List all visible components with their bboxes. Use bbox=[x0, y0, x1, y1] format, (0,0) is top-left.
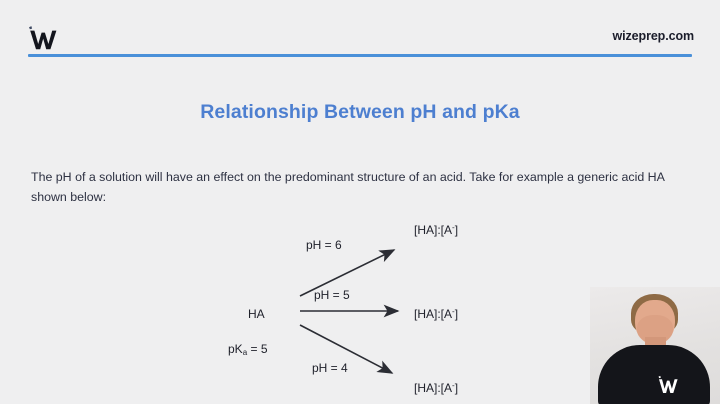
ph-pka-branch-diagram: HA pKa = 5 pH = 6 pH = 5 pH = 4 [HA]:[A-… bbox=[228, 206, 528, 404]
branch-result-ph4: [HA]:[A-] bbox=[414, 381, 458, 395]
diagram-arrows bbox=[228, 206, 528, 404]
branch-result-ph5: [HA]:[A-] bbox=[414, 307, 458, 321]
pka-prefix: pK bbox=[228, 342, 243, 356]
wizeprep-w-logo-icon bbox=[26, 24, 60, 52]
ratio-prefix: [HA]:[A bbox=[414, 381, 452, 395]
pka-label: pKa = 5 bbox=[228, 342, 268, 357]
presenter-video-overlay[interactable] bbox=[590, 287, 720, 404]
body-paragraph: The pH of a solution will have an effect… bbox=[31, 167, 691, 207]
branch-result-ph6: [HA]:[A-] bbox=[414, 223, 458, 237]
branch-condition-ph4: pH = 4 bbox=[312, 361, 348, 375]
branch-condition-ph6: pH = 6 bbox=[306, 238, 342, 252]
brand-url-label: wizeprep.com bbox=[613, 29, 694, 43]
page-title: Relationship Between pH and pKa bbox=[0, 101, 720, 124]
header-divider bbox=[28, 54, 692, 57]
ratio-prefix: [HA]:[A bbox=[414, 307, 452, 321]
branch-condition-ph5: pH = 5 bbox=[314, 288, 350, 302]
ratio-suffix: ] bbox=[455, 307, 458, 321]
slide-canvas: wizeprep.com Relationship Between pH and… bbox=[0, 0, 720, 404]
pka-suffix: = 5 bbox=[247, 342, 267, 356]
ratio-suffix: ] bbox=[455, 381, 458, 395]
ratio-prefix: [HA]:[A bbox=[414, 223, 452, 237]
presenter-torso bbox=[598, 345, 710, 404]
wizeprep-w-shirt-logo-icon bbox=[657, 375, 679, 395]
slide-header: wizeprep.com bbox=[0, 0, 720, 62]
ratio-suffix: ] bbox=[455, 223, 458, 237]
acid-label: HA bbox=[248, 307, 265, 321]
